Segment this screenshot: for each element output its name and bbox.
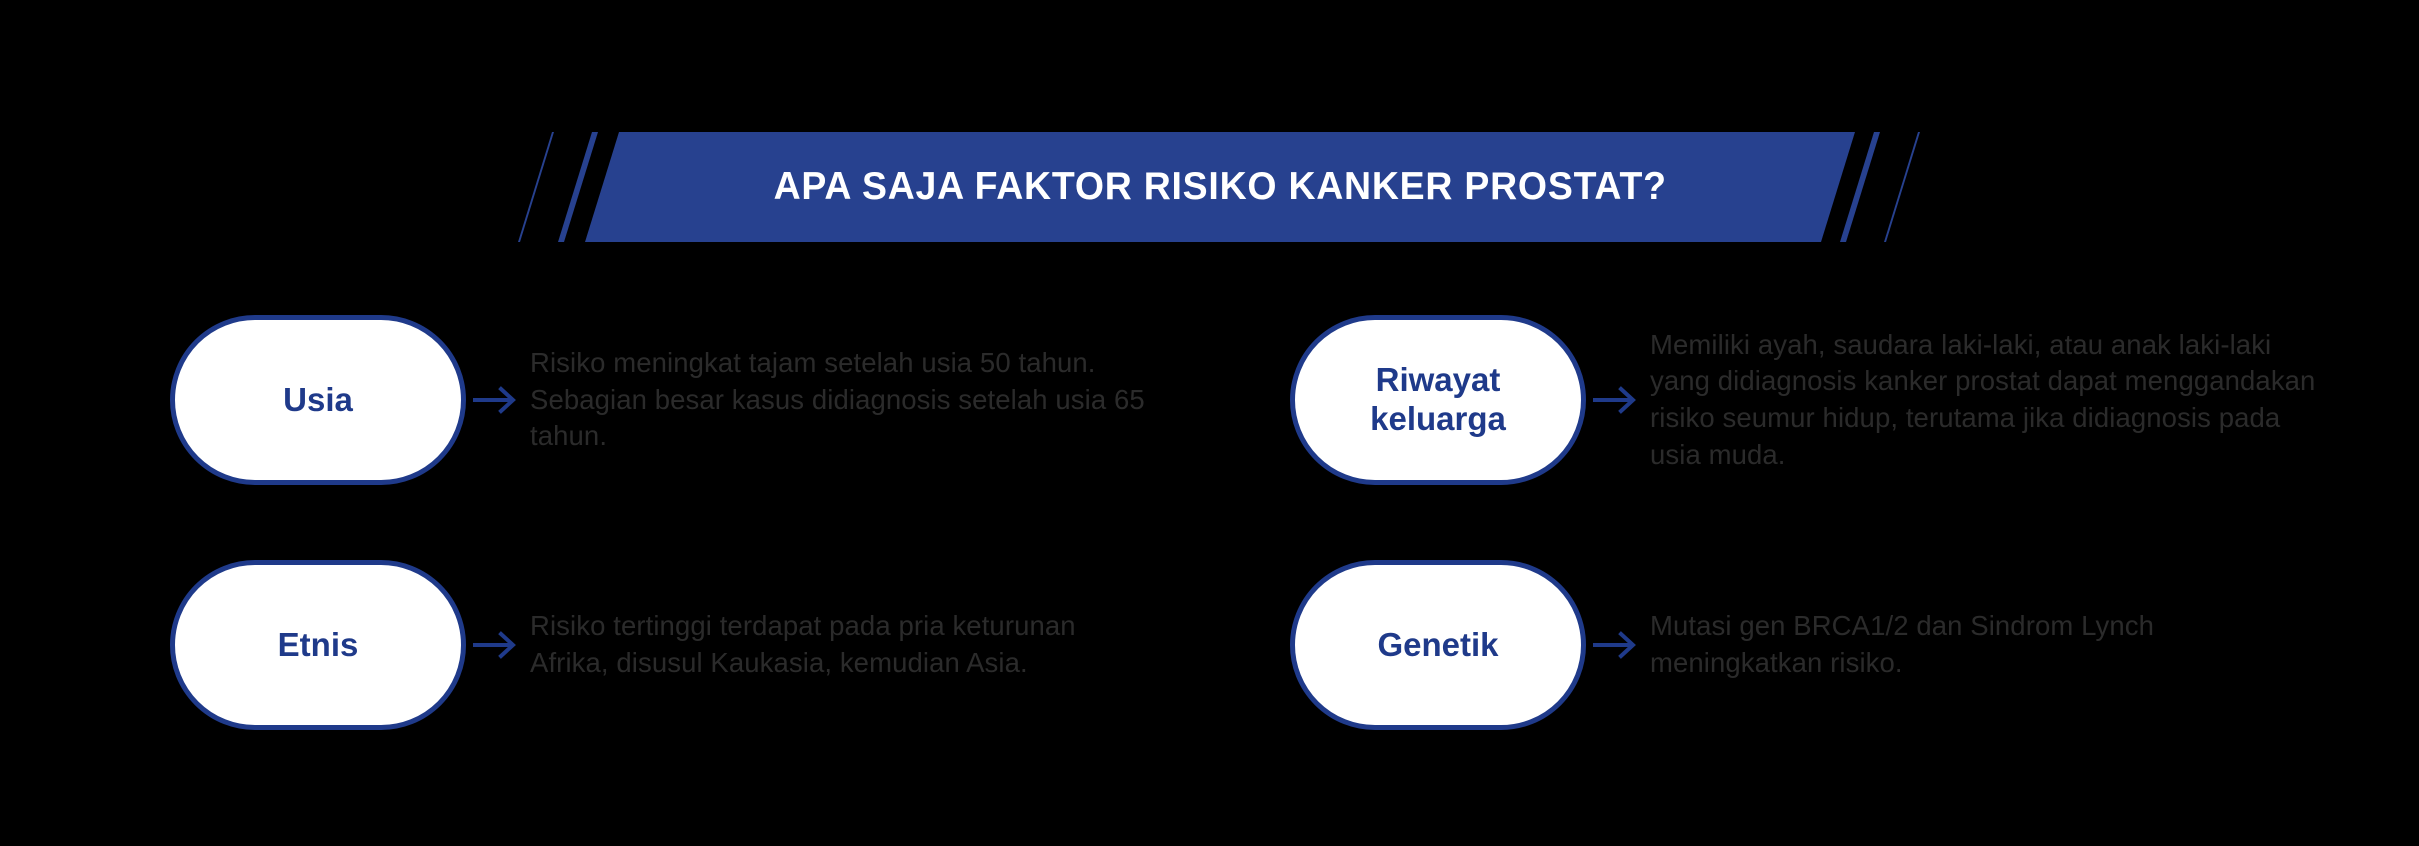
arrow-right-icon [472, 630, 520, 660]
title-banner: APA SAJA FAKTOR RISIKO KANKER PROSTAT? [0, 132, 2419, 242]
factor-row-riwayat-keluarga: Riwayat keluarga Memiliki ayah, saudara … [1290, 315, 2330, 485]
factor-pill-label: Usia [267, 375, 369, 426]
banner-accent-left-outer [518, 132, 554, 242]
factor-pill-label: Etnis [262, 620, 375, 671]
arrow-right-icon [472, 385, 520, 415]
arrow-right-icon [1592, 630, 1640, 660]
factor-row-genetik: Genetik Mutasi gen BRCA1/2 dan Sindrom L… [1290, 560, 2270, 730]
arrow-right-icon [1592, 385, 1640, 415]
factor-row-etnis: Etnis Risiko tertinggi terdapat pada pri… [170, 560, 1150, 730]
banner-accent-right-outer [1884, 132, 1920, 242]
factor-pill-label: Genetik [1361, 620, 1514, 671]
banner-main-slab: APA SAJA FAKTOR RISIKO KANKER PROSTAT? [585, 132, 1855, 242]
page-title: APA SAJA FAKTOR RISIKO KANKER PROSTAT? [773, 165, 1666, 209]
factor-description: Mutasi gen BRCA1/2 dan Sindrom Lynch men… [1650, 608, 2270, 681]
infographic-canvas: APA SAJA FAKTOR RISIKO KANKER PROSTAT? U… [0, 0, 2419, 846]
factor-row-usia: Usia Risiko meningkat tajam setelah usia… [170, 315, 1170, 485]
factor-description: Memiliki ayah, saudara laki-laki, atau a… [1650, 327, 2330, 473]
factor-pill-usia[interactable]: Usia [170, 315, 466, 485]
factor-pill-label: Riwayat keluarga [1354, 355, 1522, 445]
factor-description: Risiko tertinggi terdapat pada pria ketu… [530, 608, 1150, 681]
factor-pill-genetik[interactable]: Genetik [1290, 560, 1586, 730]
factor-pill-riwayat-keluarga[interactable]: Riwayat keluarga [1290, 315, 1586, 485]
factor-description: Risiko meningkat tajam setelah usia 50 t… [530, 345, 1170, 455]
factor-pill-etnis[interactable]: Etnis [170, 560, 466, 730]
